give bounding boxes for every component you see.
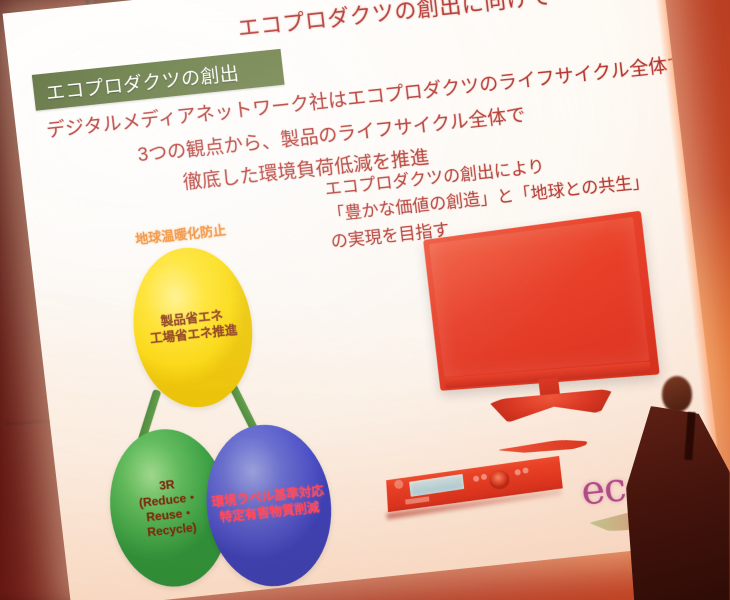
bubble-label-group: 環境ラベル基準対応 特定有害物質削減	[211, 484, 326, 527]
recorder-accent-fin	[496, 437, 589, 459]
person-silhouette	[618, 350, 730, 600]
person-head	[662, 376, 692, 412]
diagram-title: 地球温暖化防止	[134, 220, 227, 248]
bubble-label-group: 3R (Reduce・ Reuse・ Recycle)	[137, 475, 203, 541]
screenshot-root: エコプロダクツの創出に向けて エコプロダクツの創出 デジタルメディアネットワーク…	[0, 0, 730, 600]
pillar-bubble-energy: 製品省エネ 工場省エネ推進	[125, 242, 261, 413]
tv-screen	[429, 217, 649, 377]
slide-headline: エコプロダクツの創出に向けて	[236, 0, 553, 43]
recorder-image	[379, 449, 574, 524]
pillar-bubble-chemicals: 環境ラベル基準対応 特定有害物質削減	[198, 419, 340, 593]
person-torso	[626, 406, 730, 600]
three-pillar-diagram: 地球温暖化防止 製品省エネ 工場省エネ推進 3R (Reduce・ Reuse・	[71, 210, 362, 600]
bubble-label-group: 製品省エネ 工場省エネ推進	[148, 307, 239, 347]
